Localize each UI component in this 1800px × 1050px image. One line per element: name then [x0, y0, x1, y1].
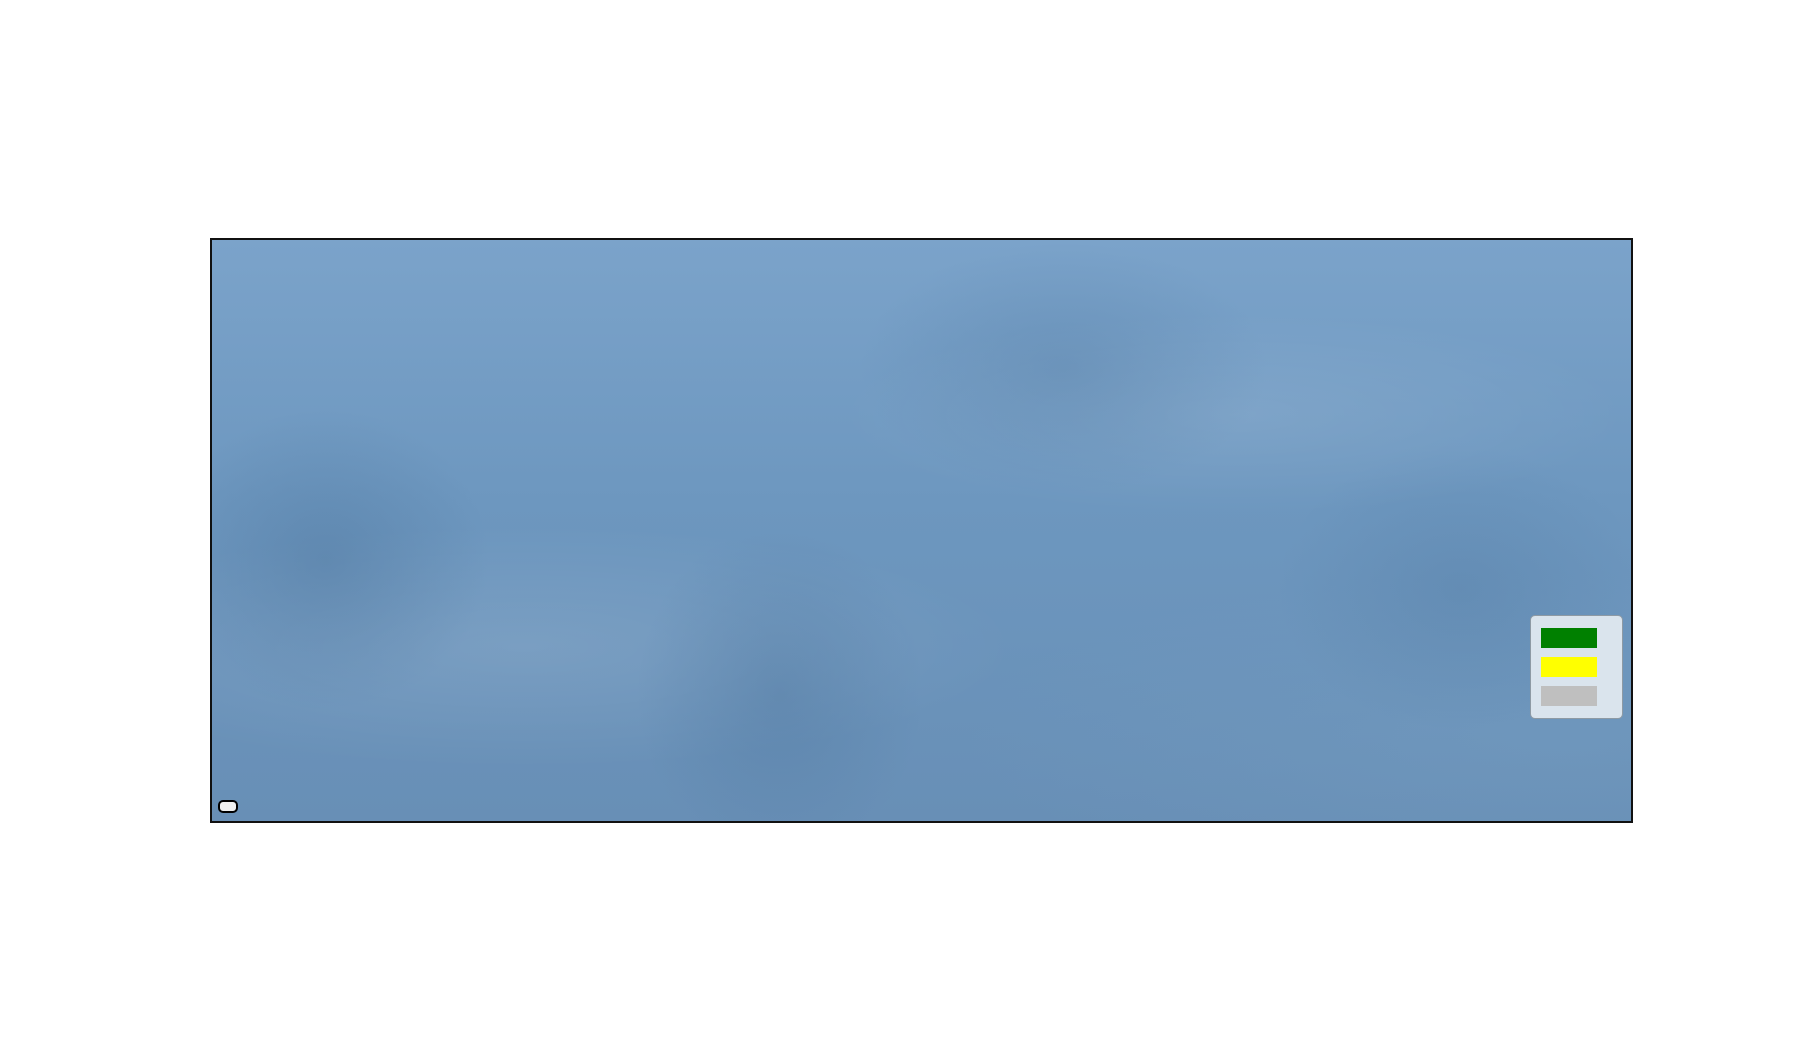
legend-swatch-no-specification [1541, 686, 1597, 706]
magnetic-equator-svg [212, 240, 1631, 821]
legend-item [1541, 623, 1610, 652]
map-plot-area [210, 238, 1633, 823]
legend-item [1541, 681, 1610, 710]
magnetic-equator-layer [212, 240, 1631, 821]
uhf-scintillation-map-figure [0, 0, 1800, 1050]
legend-swatch-possibly-clear [1541, 657, 1597, 677]
frequency-validity-note [218, 800, 238, 813]
map-legend [1530, 615, 1623, 719]
legend-item [1541, 652, 1610, 681]
legend-swatch-probably-clear [1541, 628, 1597, 648]
